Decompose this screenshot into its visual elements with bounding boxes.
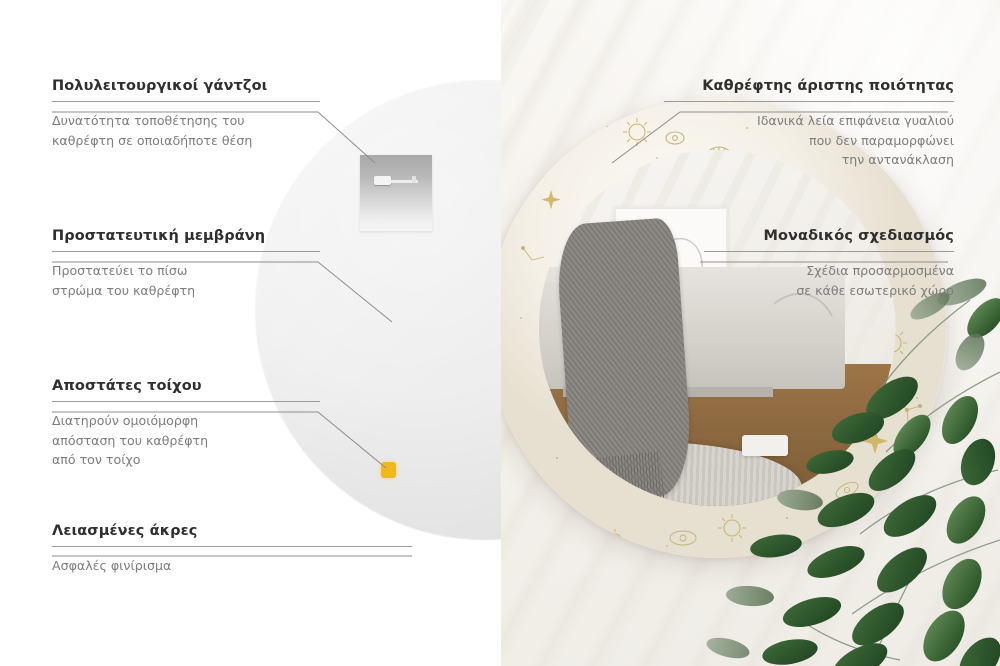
callout-title: Προστατευτική μεμβράνη xyxy=(52,228,320,244)
callout-rule xyxy=(52,251,320,252)
callout-body: Σχέδια προσαρμοσμένα σε κάθε εσωτερικό χ… xyxy=(704,261,954,300)
callout-rule xyxy=(664,101,954,102)
callout-body: Διατηρούν ομοιόμορφη απόσταση του καθρέφ… xyxy=(52,411,320,470)
callout-body: Προστατεύει το πίσω στρώμα του καθρέφτη xyxy=(52,261,320,300)
callout-title: Λειασμένες άκρες xyxy=(52,523,412,539)
callout-protective-membrane: Προστατευτική μεμβράνη Προστατεύει το πί… xyxy=(52,228,320,300)
callout-title: Αποστάτες τοίχου xyxy=(52,378,320,394)
callout-multifunctional-hooks: Πολυλειτουργικοί γάντζοι Δυνατότητα τοπο… xyxy=(52,78,320,150)
wall-spacer-marker xyxy=(381,462,396,478)
callout-rule xyxy=(52,401,320,402)
callout-title: Μοναδικός σχεδιασμός xyxy=(704,228,954,244)
hook-icon xyxy=(374,175,418,187)
callout-top-quality-mirror: Καθρέφτης άριστης ποιότητας Ιδανικά λεία… xyxy=(664,78,954,170)
callout-rule xyxy=(704,251,954,252)
hook-detail-inset xyxy=(360,155,432,231)
callout-body: Δυνατότητα τοποθέτησης του καθρέφτη σε ο… xyxy=(52,111,320,150)
callout-rule xyxy=(52,101,320,102)
callout-smoothed-edges: Λειασμένες άκρες Ασφαλές φινίρισμα xyxy=(52,523,412,576)
mirror-glass-reflection xyxy=(539,150,895,506)
reflected-lamp-shade xyxy=(742,435,788,456)
callout-title: Πολυλειτουργικοί γάντζοι xyxy=(52,78,320,94)
infographic-stage: Πολυλειτουργικοί γάντζοι Δυνατότητα τοπο… xyxy=(0,0,1000,666)
callout-wall-spacers: Αποστάτες τοίχου Διατηρούν ομοιόμορφη απ… xyxy=(52,378,320,470)
callout-body: Ασφαλές φινίρισμα xyxy=(52,556,412,576)
callout-rule xyxy=(52,546,412,547)
callout-body: Ιδανικά λεία επιφάνεια γυαλιού που δεν π… xyxy=(664,111,954,170)
throw-fringe xyxy=(567,452,667,506)
callout-title: Καθρέφτης άριστης ποιότητας xyxy=(664,78,954,94)
callout-unique-design: Μοναδικός σχεδιασμός Σχέδια προσαρμοσμέν… xyxy=(704,228,954,300)
